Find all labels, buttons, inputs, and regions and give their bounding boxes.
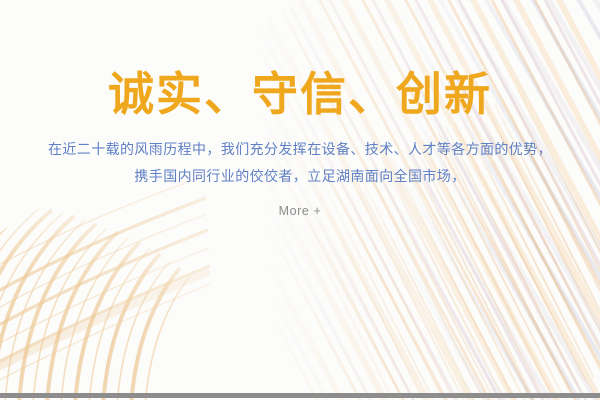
intro-line-1: 在近二十载的风雨历程中，我们充分发挥在设备、技术、人才等各方面的优势， bbox=[0, 136, 600, 163]
banner-section: 诚实、守信、创新 在近二十载的风雨历程中，我们充分发挥在设备、技术、人才等各方面… bbox=[0, 0, 600, 400]
banner-content: 诚实、守信、创新 在近二十载的风雨历程中，我们充分发挥在设备、技术、人才等各方面… bbox=[0, 0, 600, 400]
more-link[interactable]: More + bbox=[0, 203, 600, 219]
intro-paragraph: 在近二十载的风雨历程中，我们充分发挥在设备、技术、人才等各方面的优势， 携手国内… bbox=[0, 136, 600, 190]
intro-line-2: 携手国内同行业的佼佼者，立足湖南面向全国市场， bbox=[0, 163, 600, 190]
page-title: 诚实、守信、创新 bbox=[0, 66, 600, 122]
